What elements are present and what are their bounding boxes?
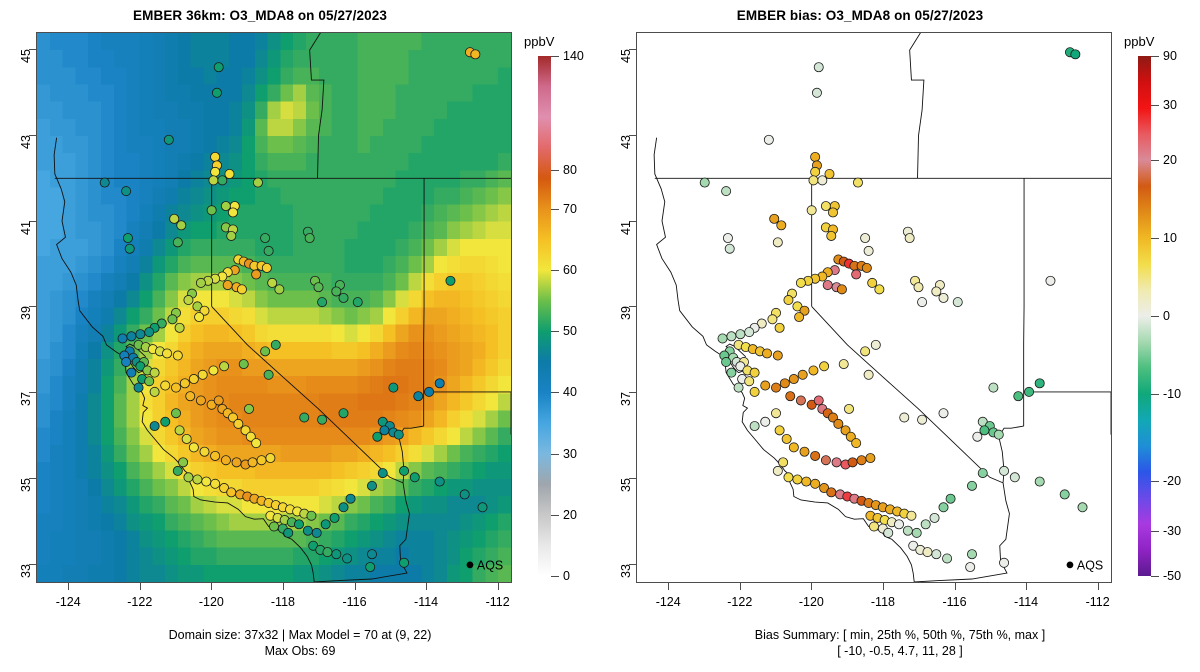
aqs-station-marker[interactable] [1046,276,1055,285]
aqs-station-marker[interactable] [366,562,375,571]
colorbar-tick-mark [1151,56,1159,57]
aqs-station-marker[interactable] [953,298,962,307]
aqs-station-marker[interactable] [314,283,323,292]
aqs-station-marker[interactable] [346,494,355,503]
aqs-station-marker[interactable] [164,135,173,144]
aqs-station-marker[interactable] [182,434,191,443]
x-tick-mark [283,583,284,590]
aqs-station-marker[interactable] [253,178,262,187]
aqs-station-marker[interactable] [821,201,830,210]
aqs-station-marker[interactable] [150,368,159,377]
x-tick-label: -118 [871,595,895,609]
aqs-station-marker[interactable] [145,328,154,337]
aqs-station-marker[interactable] [722,187,731,196]
x-tick-label: -112 [486,595,510,609]
aqs-station-marker[interactable] [914,283,923,292]
aqs-station-marker[interactable] [209,176,218,185]
aqs-station-marker[interactable] [207,206,216,215]
aqs-station-marker[interactable] [866,453,875,462]
aqs-station-marker[interactable] [967,481,976,490]
y-tick-label: 39 [19,306,33,320]
aqs-station-marker[interactable] [861,347,870,356]
x-tick-label: -122 [727,595,752,609]
y-tick-label: 33 [619,564,633,578]
aqs-station-marker[interactable] [966,562,975,571]
aqs-station-marker[interactable] [782,434,791,443]
colorbar-tick-label: 10 [1163,231,1177,245]
aqs-station-marker[interactable] [237,285,246,294]
aqs-station-marker[interactable] [894,520,903,529]
aqs-station-marker[interactable] [795,312,804,321]
aqs-station-marker[interactable] [244,404,253,413]
aqs-station-marker[interactable] [367,481,376,490]
aqs-station-marker[interactable] [807,206,816,215]
aqs-station-marker[interactable] [1078,503,1087,512]
colorbar-tick-label: 70 [563,202,577,216]
y-tick-label: 33 [19,564,33,578]
aqs-station-marker[interactable] [745,377,754,386]
map-boundary-line [910,32,926,178]
aqs-station-marker[interactable] [725,244,734,253]
aqs-station-marker[interactable] [209,366,218,375]
aqs-station-marker[interactable] [773,238,782,247]
aqs-station-marker[interactable] [814,63,823,72]
aqs-station-marker[interactable] [257,456,266,465]
aqs-station-marker[interactable] [939,503,948,512]
bias-overlay-layer: AQS [637,33,1111,582]
aqs-station-marker[interactable] [818,176,827,185]
aqs-station-marker[interactable] [861,233,870,242]
aqs-station-marker[interactable] [827,488,836,497]
aqs-station-marker[interactable] [261,233,270,242]
aqs-station-marker[interactable] [266,453,275,462]
aqs-station-marker[interactable] [827,231,836,240]
aqs-station-marker[interactable] [171,383,180,392]
aqs-station-marker[interactable] [123,233,132,242]
aqs-station-marker[interactable] [271,340,280,349]
aqs-station-marker[interactable] [218,176,227,185]
caption-model-line2: Max Obs: 69 [0,643,600,659]
aqs-station-marker[interactable] [999,558,1008,567]
aqs-station-marker[interactable] [779,458,788,467]
aqs-station-marker[interactable] [905,233,914,242]
aqs-station-marker[interactable] [770,214,779,223]
aqs-station-marker[interactable] [989,383,998,392]
aqs-station-marker[interactable] [193,475,202,484]
aqs-station-marker[interactable] [307,511,316,520]
aqs-station-marker[interactable] [227,488,236,497]
aqs-station-marker[interactable] [184,295,193,304]
aqs-station-marker[interactable] [150,421,159,430]
aqs-station-marker[interactable] [221,201,230,210]
aqs-station-marker[interactable] [228,208,237,217]
aqs-station-marker[interactable] [734,383,743,392]
aqs-station-marker[interactable] [300,413,309,422]
aqs-station-marker[interactable] [943,554,952,563]
colorbar-tick-mark [551,209,559,210]
y-tick-label: 45 [19,49,33,63]
aqs-station-marker[interactable] [722,357,731,366]
aqs-station-marker[interactable] [775,323,784,332]
x-tick-mark [740,583,741,590]
aqs-station-marker[interactable] [918,298,927,307]
aqs-station-marker[interactable] [145,377,154,386]
aqs-station-marker[interactable] [252,270,261,279]
aqs-station-marker[interactable] [900,413,909,422]
aqs-station-marker[interactable] [318,415,327,424]
aqs-station-marker[interactable] [161,417,170,426]
aqs-station-marker[interactable] [221,456,230,465]
aqs-station-marker[interactable] [136,330,145,339]
aqs-station-marker[interactable] [414,392,423,401]
aqs-station-marker[interactable] [214,63,223,72]
aqs-station-marker[interactable] [907,511,916,520]
aqs-station-marker[interactable] [798,370,807,379]
aqs-station-marker[interactable] [179,458,188,467]
aqs-station-marker[interactable] [189,443,198,452]
aqs-station-marker[interactable] [768,315,777,324]
aqs-station-marker[interactable] [812,88,821,97]
aqs-station-marker[interactable] [839,360,848,369]
aqs-station-marker[interactable] [814,396,823,405]
page-title-model: EMBER 36km: O3_MDA8 on 05/27/2023 [0,8,520,23]
aqs-station-marker[interactable] [234,419,243,428]
aqs-station-marker[interactable] [177,221,186,230]
aqs-station-marker[interactable] [796,278,805,287]
aqs-station-marker[interactable] [343,554,352,563]
aqs-station-marker[interactable] [786,392,795,401]
aqs-station-marker[interactable] [161,381,170,390]
colorbar-strip-bias [1138,56,1151,576]
aqs-station-marker[interactable] [771,383,780,392]
aqs-station-marker[interactable] [305,233,314,242]
aqs-station-marker[interactable] [903,526,912,535]
aqs-station-marker[interactable] [303,526,312,535]
aqs-station-marker[interactable] [446,276,455,285]
aqs-station-marker[interactable] [718,334,727,343]
x-tick-label: -114 [414,595,438,609]
aqs-station-marker[interactable] [232,458,241,467]
aqs-station-marker[interactable] [932,550,941,559]
aqs-station-marker[interactable] [844,404,853,413]
aqs-station-marker[interactable] [809,366,818,375]
colorbar-tick-mark [1151,394,1159,395]
aqs-station-marker[interactable] [1035,379,1044,388]
colorbar-tick-mark [551,392,559,393]
aqs-station-marker[interactable] [789,374,798,383]
aqs-station-marker[interactable] [1035,477,1044,486]
aqs-station-marker[interactable] [868,278,877,287]
x-tick-mark [883,583,884,590]
aqs-station-marker[interactable] [150,387,159,396]
aqs-station-marker[interactable] [821,456,830,465]
aqs-station-marker[interactable] [1024,387,1033,396]
x-tick-label: -116 [942,595,966,609]
colorbar-tick-mark [551,270,559,271]
aqs-station-marker[interactable] [339,409,348,418]
aqs-station-marker[interactable] [1060,490,1069,499]
aqs-station-marker[interactable] [184,473,193,482]
aqs-station-marker[interactable] [162,349,171,358]
figure-root: EMBER 36km: O3_MDA8 on 05/27/2023 AQS -1… [0,0,1200,672]
y-tick-label: 43 [19,135,33,149]
aqs-station-marker[interactable] [1071,50,1080,59]
aqs-station-marker[interactable] [323,548,332,557]
aqs-station-marker[interactable] [802,477,811,486]
aqs-station-marker[interactable] [410,473,419,482]
aqs-station-marker[interactable] [727,332,736,341]
aqs-station-marker[interactable] [789,443,798,452]
aqs-station-marker[interactable] [198,370,207,379]
aqs-station-marker[interactable] [932,287,941,296]
aqs-station-marker[interactable] [264,246,273,255]
aqs-station-marker[interactable] [248,458,257,467]
aqs-station-marker[interactable] [825,169,834,178]
aqs-station-marker[interactable] [227,231,236,240]
aqs-station-marker[interactable] [811,152,820,161]
aqs-station-marker[interactable] [214,396,223,405]
aqs-station-marker[interactable] [918,415,927,424]
aqs-station-marker[interactable] [200,447,209,456]
aqs-station-marker[interactable] [864,246,873,255]
aqs-station-marker[interactable] [211,479,220,488]
colorbar-tick-label: 0 [563,569,570,583]
aqs-station-marker[interactable] [946,494,955,503]
aqs-station-marker[interactable] [773,466,782,475]
aqs-station-marker[interactable] [321,520,330,529]
aqs-station-marker[interactable] [389,383,398,392]
aqs-station-marker[interactable] [195,312,204,321]
colorbar-tick-label: 30 [563,447,577,461]
aqs-station-marker[interactable] [884,528,893,537]
aqs-station-marker[interactable] [175,426,184,435]
map-boundary-line [314,483,409,582]
colorbar-tick-mark [551,170,559,171]
aqs-station-marker[interactable] [471,50,480,59]
aqs-station-marker[interactable] [339,293,348,302]
aqs-station-marker[interactable] [780,379,789,388]
page-title-bias: EMBER bias: O3_MDA8 on 05/27/2023 [600,8,1120,23]
aqs-station-marker[interactable] [864,370,873,379]
aqs-station-marker[interactable] [773,351,782,360]
aqs-station-marker[interactable] [857,456,866,465]
aqs-station-marker[interactable] [727,368,736,377]
aqs-station-marker[interactable] [761,381,770,390]
aqs-station-marker[interactable] [211,451,220,460]
aqs-station-marker[interactable] [268,278,277,287]
aqs-station-marker[interactable] [784,473,793,482]
caption-model-line1: Domain size: 37x32 | Max Model = 70 at (… [0,627,600,643]
x-tick-mark [811,583,812,590]
aqs-station-marker[interactable] [871,340,880,349]
aqs-station-marker[interactable] [761,417,770,426]
aqs-station-marker[interactable] [853,178,862,187]
aqs-station-marker[interactable] [848,458,857,467]
x-tick-mark [1098,583,1099,590]
aqs-station-marker[interactable] [777,221,786,230]
aqs-station-marker[interactable] [796,396,805,405]
aqs-station-marker[interactable] [294,520,303,529]
aqs-station-marker[interactable] [828,208,837,217]
aqs-station-marker[interactable] [127,332,136,341]
aqs-station-marker[interactable] [834,419,843,428]
aqs-station-marker[interactable] [100,178,109,187]
aqs-station-marker[interactable] [460,490,469,499]
aqs-station-marker[interactable] [811,167,820,176]
aqs-station-marker[interactable] [223,280,232,289]
colorbar-tick-mark [1151,316,1159,317]
aqs-station-marker[interactable] [852,270,861,279]
aqs-station-marker[interactable] [262,263,271,272]
aqs-station-marker[interactable] [264,370,273,379]
aqs-station-marker[interactable] [211,152,220,161]
aqs-station-marker[interactable] [793,475,802,484]
aqs-station-marker[interactable] [380,426,389,435]
aqs-station-marker[interactable] [378,469,387,478]
colorbar-tick-label: -50 [1163,569,1181,583]
aqs-station-marker[interactable] [332,287,341,296]
colorbar-tick-label: -20 [1163,474,1181,488]
aqs-station-marker[interactable] [967,550,976,559]
aqs-station-marker[interactable] [122,357,131,366]
aqs-station-marker[interactable] [252,439,261,448]
plot-area-bias: AQS [636,32,1112,583]
aqs-station-marker[interactable] [862,263,871,272]
aqs-station-marker[interactable] [170,214,179,223]
aqs-station-marker[interactable] [186,392,195,401]
aqs-station-marker[interactable] [196,278,205,287]
y-axis-model: 33353739414345 [0,32,36,583]
aqs-station-marker[interactable] [399,558,408,567]
aqs-station-marker[interactable] [973,432,982,441]
aqs-station-marker[interactable] [180,379,189,388]
aqs-station-marker[interactable] [800,447,809,456]
aqs-station-marker[interactable] [994,430,1003,439]
aqs-station-marker[interactable] [173,351,182,360]
aqs-station-marker[interactable] [134,383,143,392]
aqs-station-marker[interactable] [239,360,248,369]
aqs-station-marker[interactable] [930,513,939,522]
aqs-station-marker[interactable] [478,503,487,512]
aqs-station-marker[interactable] [869,522,878,531]
aqs-station-marker[interactable] [723,233,732,242]
aqs-station-marker[interactable] [750,387,759,396]
aqs-station-marker[interactable] [261,347,270,356]
aqs-station-marker[interactable] [837,285,846,294]
map-boundary-line [212,306,403,482]
aqs-station-marker[interactable] [775,426,784,435]
map-boundary-line [914,483,1009,582]
aqs-station-marker[interactable] [332,550,341,559]
aqs-station-marker[interactable] [173,466,182,475]
aqs-station-marker[interactable] [125,244,134,253]
aqs-station-marker[interactable] [750,421,759,430]
aqs-station-marker[interactable] [762,349,771,358]
aqs-station-marker[interactable] [999,466,1008,475]
aqs-station-marker[interactable] [173,238,182,247]
aqs-station-marker[interactable] [852,439,861,448]
colorbar-tick-label: 90 [1163,49,1177,63]
aqs-station-marker[interactable] [196,396,205,405]
aqs-station-marker[interactable] [284,528,293,537]
caption-bias-line1: Bias Summary: [ min, 25th %, 50th %, 75t… [600,627,1200,643]
aqs-station-marker[interactable] [823,280,832,289]
aqs-station-marker[interactable] [435,379,444,388]
aqs-station-marker[interactable] [353,298,362,307]
aqs-station-marker[interactable] [832,458,841,467]
aqs-station-marker[interactable] [189,374,198,383]
aqs-station-marker[interactable] [318,298,327,307]
aqs-station-marker[interactable] [764,135,773,144]
aqs-station-marker[interactable] [118,334,127,343]
aqs-station-marker[interactable] [225,169,234,178]
aqs-station-marker[interactable] [275,285,284,294]
aqs-station-marker[interactable] [202,477,211,486]
aqs-station-marker[interactable] [923,548,932,557]
aqs-station-marker[interactable] [424,387,433,396]
aqs-station-marker[interactable] [171,409,180,418]
aqs-station-marker[interactable] [811,479,820,488]
y-tick-label: 41 [19,221,33,235]
aqs-station-marker[interactable] [127,368,136,377]
y-tick-label: 35 [619,478,633,492]
aqs-station-marker[interactable] [939,409,948,418]
aqs-station-marker[interactable] [771,409,780,418]
aqs-station-marker[interactable] [168,315,177,324]
colorbar-tick-mark [1151,576,1159,577]
aqs-station-marker[interactable] [700,178,709,187]
aqs-station-marker[interactable] [435,477,444,486]
aqs-station-marker[interactable] [809,176,818,185]
y-tick-label: 39 [619,306,633,320]
aqs-station-marker[interactable] [211,167,220,176]
aqs-station-marker[interactable] [811,451,820,460]
aqs-station-marker[interactable] [921,520,930,529]
colorbar-tick-mark [551,454,559,455]
aqs-station-marker[interactable] [875,285,884,294]
colorbar-tick-label: 60 [563,263,577,277]
aqs-legend-label: AQS [1077,558,1103,572]
aqs-station-marker[interactable] [212,88,221,97]
x-tick-mark [355,583,356,590]
aqs-station-marker[interactable] [367,550,376,559]
aqs-station-marker[interactable] [1014,392,1023,401]
aqs-station-marker[interactable] [978,469,987,478]
panel-model: EMBER 36km: O3_MDA8 on 05/27/2023 AQS -1… [0,0,600,672]
x-tick-label: -116 [342,595,366,609]
aqs-station-marker[interactable] [912,528,921,537]
aqs-station-marker[interactable] [373,432,382,441]
colorbar-tick-label: 80 [563,163,577,177]
aqs-station-marker[interactable] [220,362,229,371]
aqs-station-marker[interactable] [939,293,948,302]
aqs-station-marker[interactable] [122,187,131,196]
aqs-station-marker[interactable] [399,466,408,475]
aqs-station-marker[interactable] [750,368,759,377]
aqs-station-marker[interactable] [330,513,339,522]
aqs-station-marker[interactable] [394,430,403,439]
aqs-station-marker[interactable] [175,323,184,332]
aqs-station-marker[interactable] [269,522,278,531]
aqs-station-marker[interactable] [339,503,348,512]
aqs-station-marker[interactable] [1010,473,1019,482]
aqs-station-marker[interactable] [980,426,989,435]
aqs-station-marker[interactable] [312,528,321,537]
aqs-station-marker[interactable] [784,295,793,304]
aqs-station-marker[interactable] [745,328,754,337]
aqs-station-marker[interactable] [820,362,829,371]
aqs-station-marker[interactable] [736,330,745,339]
